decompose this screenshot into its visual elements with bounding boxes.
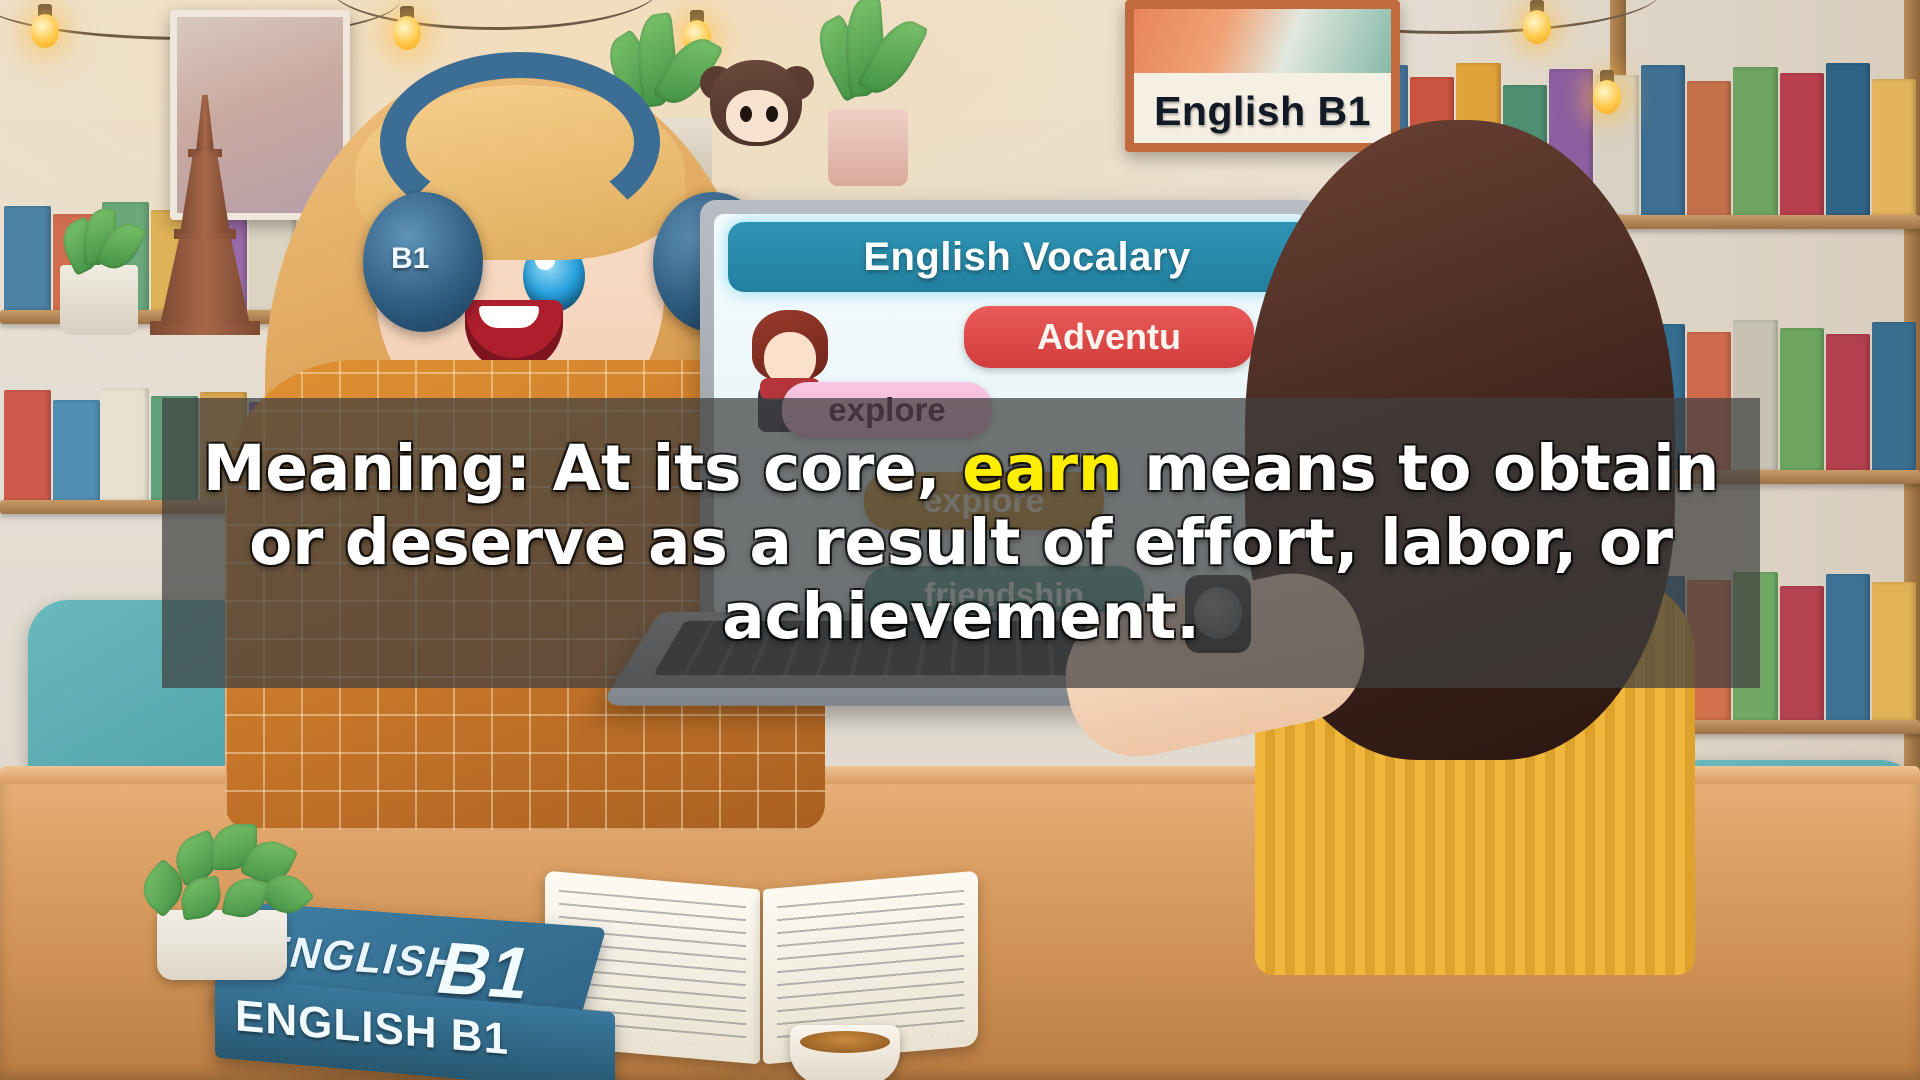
screen-title-bar: English Vocalary xyxy=(728,222,1306,292)
book-front-title: ENGLISH B1 xyxy=(235,991,509,1065)
screenshot-canvas: English B1 xyxy=(0,0,1920,1080)
light-bulb-icon xyxy=(1520,0,1554,44)
subtitle-before: Meaning: At its core, xyxy=(203,432,962,505)
headphone-b1-label: B1 xyxy=(391,242,429,276)
potted-plant-icon xyxy=(60,265,138,335)
potted-plant-icon xyxy=(828,110,908,186)
teacup-icon xyxy=(790,1025,900,1080)
screen-title: English Vocalary xyxy=(863,235,1190,280)
light-bulb-icon xyxy=(28,4,62,48)
subtitle-highlight-word: earn xyxy=(962,432,1122,505)
subtitle-overlay-band: Meaning: At its core, earn means to obta… xyxy=(162,398,1760,688)
eiffel-tower-icon xyxy=(150,85,260,335)
succulent-plant-icon xyxy=(135,790,315,980)
subtitle-text: Meaning: At its core, earn means to obta… xyxy=(180,432,1742,653)
poster-image xyxy=(1134,9,1391,73)
vocab-chip-adventure[interactable]: Adventu xyxy=(964,306,1254,368)
light-bulb-icon xyxy=(1590,70,1624,114)
